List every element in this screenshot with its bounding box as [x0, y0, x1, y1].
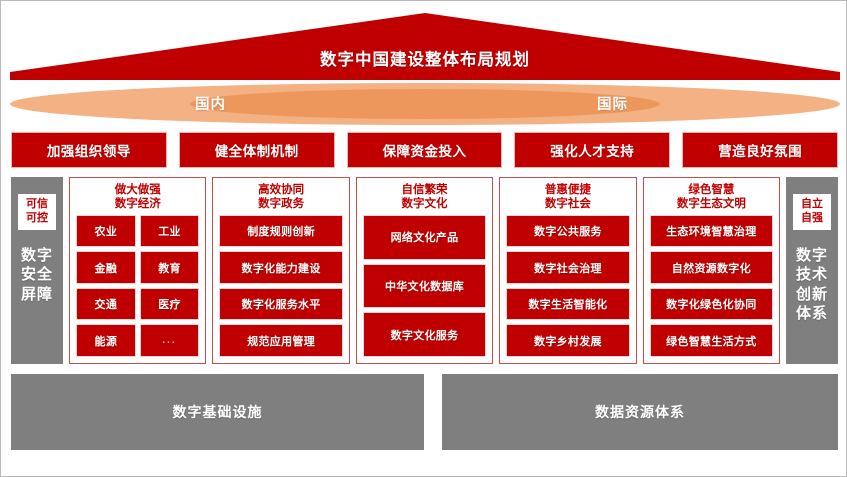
measure-bar-3[interactable]: 保障资金投入	[347, 132, 503, 168]
column-heading-1: 做大做强 数字经济	[76, 183, 199, 212]
chip-item[interactable]: 数字化能力建设	[219, 251, 342, 284]
slide-canvas: 数字中国建设整体布局规划 国内 国际 加强组织领导 健全体制机制 保障资金投入 …	[0, 0, 847, 477]
column-heading-3: 自信繁荣 数字文化	[363, 183, 486, 212]
right-pillar-title: 数字 技术 创新 体系	[786, 246, 838, 324]
right-pillar-chip: 自立 自强	[793, 194, 831, 230]
chip-item[interactable]: 制度规则创新	[219, 215, 342, 248]
measure-bar-2[interactable]: 健全体制机制	[179, 132, 335, 168]
roof-title: 数字中国建设整体布局规划	[10, 46, 840, 70]
body-row: 可信 可控 数字 安全 屏障 做大做强 数字经济 农业 工业 金融 教育 交通 …	[11, 177, 838, 364]
foundation-row: 数字基础设施 数据资源体系	[11, 374, 838, 450]
chip-item[interactable]: 数字化绿色化协同	[650, 288, 773, 321]
label-international: 国际	[597, 93, 628, 114]
pillar-columns: 做大做强 数字经济 农业 工业 金融 教育 交通 医疗 能源 ... 高效协同 …	[69, 177, 780, 364]
scope-band: 国内 国际	[10, 82, 840, 126]
pillar-column-digital-culture[interactable]: 自信繁荣 数字文化 网络文化产品 中华文化数据库 数字文化服务	[356, 177, 493, 364]
chip-item[interactable]: 金融	[76, 251, 136, 284]
chip-item[interactable]: 规范应用管理	[219, 324, 342, 357]
pillar-column-digital-government[interactable]: 高效协同 数字政务 制度规则创新 数字化能力建设 数字化服务水平 规范应用管理	[212, 177, 349, 364]
left-pillar: 可信 可控 数字 安全 屏障	[11, 177, 63, 364]
pillar-column-digital-society[interactable]: 普惠便捷 数字社会 数字公共服务 数字社会治理 数字生活智能化 数字乡村发展	[499, 177, 636, 364]
chip-item[interactable]: 网络文化产品	[363, 215, 486, 260]
measure-bar-5[interactable]: 营造良好氛围	[682, 132, 838, 168]
foundation-data-resources[interactable]: 数据资源体系	[442, 374, 838, 450]
right-pillar: 自立 自强 数字 技术 创新 体系	[786, 177, 838, 364]
left-pillar-title: 数字 安全 屏障	[11, 246, 63, 305]
chip-item-ellipsis[interactable]: ...	[140, 324, 200, 357]
column-items-5: 生态环境智慧治理 自然资源数字化 数字化绿色化协同 绿色智慧生活方式	[650, 215, 773, 357]
column-items-3: 网络文化产品 中华文化数据库 数字文化服务	[363, 215, 486, 357]
chip-item[interactable]: 绿色智慧生活方式	[650, 324, 773, 357]
chip-item[interactable]: 数字生活智能化	[506, 288, 629, 321]
measures-row: 加强组织领导 健全体制机制 保障资金投入 强化人才支持 营造良好氛围	[11, 132, 838, 168]
label-domestic: 国内	[195, 93, 226, 114]
chip-item[interactable]: 工业	[140, 215, 200, 248]
pillar-column-digital-economy[interactable]: 做大做强 数字经济 农业 工业 金融 教育 交通 医疗 能源 ...	[69, 177, 206, 364]
measure-bar-4[interactable]: 强化人才支持	[514, 132, 670, 168]
inner-ellipse	[190, 89, 660, 119]
chip-item[interactable]: 交通	[76, 288, 136, 321]
chip-item[interactable]: 教育	[140, 251, 200, 284]
column-heading-4: 普惠便捷 数字社会	[506, 183, 629, 212]
measure-bar-1[interactable]: 加强组织领导	[11, 132, 167, 168]
column-items-4: 数字公共服务 数字社会治理 数字生活智能化 数字乡村发展	[506, 215, 629, 357]
column-items-1: 农业 工业 金融 教育 交通 医疗 能源 ...	[76, 215, 199, 357]
chip-item[interactable]: 数字化服务水平	[219, 288, 342, 321]
chip-item[interactable]: 生态环境智慧治理	[650, 215, 773, 248]
chip-item[interactable]: 数字社会治理	[506, 251, 629, 284]
chip-item[interactable]: 农业	[76, 215, 136, 248]
chip-item[interactable]: 医疗	[140, 288, 200, 321]
chip-item[interactable]: 数字乡村发展	[506, 324, 629, 357]
column-heading-2: 高效协同 数字政务	[219, 183, 342, 212]
chip-item[interactable]: 中华文化数据库	[363, 264, 486, 309]
roof-triangle: 数字中国建设整体布局规划	[10, 13, 840, 80]
chip-item[interactable]: 能源	[76, 324, 136, 357]
chip-item[interactable]: 自然资源数字化	[650, 251, 773, 284]
chip-item[interactable]: 数字公共服务	[506, 215, 629, 248]
column-items-2: 制度规则创新 数字化能力建设 数字化服务水平 规范应用管理	[219, 215, 342, 357]
left-pillar-chip: 可信 可控	[18, 194, 56, 230]
column-heading-5: 绿色智慧 数字生态文明	[650, 183, 773, 212]
foundation-infrastructure[interactable]: 数字基础设施	[11, 374, 424, 450]
pillar-column-digital-eco-civilization[interactable]: 绿色智慧 数字生态文明 生态环境智慧治理 自然资源数字化 数字化绿色化协同 绿色…	[643, 177, 780, 364]
chip-item[interactable]: 数字文化服务	[363, 312, 486, 357]
